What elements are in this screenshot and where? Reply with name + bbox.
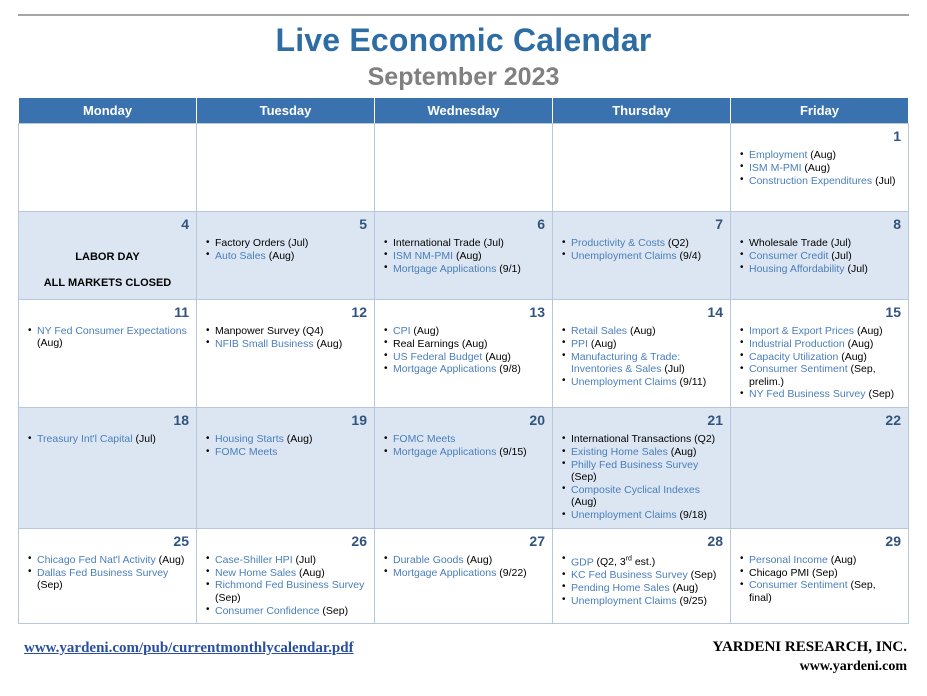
event-item[interactable]: Unemployment Claims (9/11): [560, 376, 723, 388]
event-link[interactable]: GDP: [571, 556, 594, 568]
event-list: Productivity & Costs (Q2)Unemployment Cl…: [560, 237, 723, 262]
event-item[interactable]: Mortgage Applications (9/1): [382, 263, 545, 275]
day-number: [204, 128, 367, 145]
event-item[interactable]: Housing Affordability (Jul): [738, 263, 901, 275]
event-link[interactable]: Consumer Credit: [749, 250, 828, 262]
event-item[interactable]: Employment (Aug): [738, 149, 901, 161]
event-item[interactable]: Case-Shiller HPI (Jul): [204, 554, 367, 566]
event-period: (Q2): [691, 433, 715, 445]
calendar-week-row: 11NY Fed Consumer Expectations (Aug)12Ma…: [19, 300, 909, 408]
event-period: (Aug): [588, 338, 617, 350]
event-link[interactable]: Unemployment Claims: [571, 250, 677, 262]
event-item[interactable]: FOMC Meets: [204, 446, 367, 458]
event-period: (9/15): [496, 446, 526, 458]
event-period: (Q4): [300, 325, 324, 337]
event-list: Employment (Aug)ISM M-PMI (Aug)Construct…: [738, 149, 901, 187]
event-period: (Aug): [453, 250, 482, 262]
event-link[interactable]: Employment: [749, 149, 807, 161]
event-link[interactable]: NY Fed Business Survey: [749, 388, 866, 400]
event-item[interactable]: GDP (Q2, 3rd est.): [560, 554, 723, 569]
event-period: (Sep): [215, 592, 241, 604]
event-period: (9/1): [496, 263, 521, 275]
weekday-header-thursday: Thursday: [553, 98, 731, 124]
event-item: Wholesale Trade (Jul): [738, 237, 901, 249]
event-period: (Jul): [285, 237, 308, 249]
event-period: (Sep): [866, 388, 895, 400]
event-period: (Q2): [665, 237, 689, 249]
event-period: (Sep): [688, 569, 717, 581]
day-number: [382, 128, 545, 145]
event-item[interactable]: Consumer Sentiment (Sep, prelim.): [738, 363, 901, 388]
weekday-header-friday: Friday: [731, 98, 909, 124]
event-period: (Aug): [845, 338, 874, 350]
event-period: (9/8): [496, 363, 521, 375]
footer: www.yardeni.com/pub/currentmonthlycalend…: [18, 634, 909, 690]
calendar-day-cell: 14Retail Sales (Aug)PPI (Aug)Manufacturi…: [553, 300, 731, 408]
event-link[interactable]: Mortgage Applications: [393, 446, 496, 458]
calendar-day-cell: 29Personal Income (Aug)Chicago PMI (Sep)…: [731, 528, 909, 623]
event-period: (Aug): [37, 337, 63, 349]
event-period: (Aug): [266, 250, 295, 262]
weekday-header-wednesday: Wednesday: [375, 98, 553, 124]
event-item: International Transactions (Q2): [560, 433, 723, 445]
weekday-header-monday: Monday: [19, 98, 197, 124]
event-item[interactable]: Construction Expenditures (Jul): [738, 175, 901, 187]
day-number: 20: [382, 412, 545, 429]
event-item[interactable]: Unemployment Claims (9/25): [560, 595, 723, 607]
calendar-day-cell: 6International Trade (Jul)ISM NM-PMI (Au…: [375, 212, 553, 300]
event-link[interactable]: Productivity & Costs: [571, 237, 665, 249]
event-period: (Q2, 3rd est.): [594, 556, 656, 568]
event-period: (Aug): [464, 554, 493, 566]
event-item[interactable]: Housing Starts (Aug): [204, 433, 367, 445]
event-item[interactable]: Auto Sales (Aug): [204, 250, 367, 262]
event-list: Retail Sales (Aug)PPI (Aug)Manufacturing…: [560, 325, 723, 388]
holiday-line-1: LABOR DAY: [26, 250, 189, 264]
holiday-line-2: ALL MARKETS CLOSED: [26, 276, 189, 290]
calendar-empty-cell: [375, 124, 553, 212]
event-item: Manpower Survey (Q4): [204, 325, 367, 337]
day-number: 19: [204, 412, 367, 429]
weekday-header-row: Monday Tuesday Wednesday Thursday Friday: [19, 98, 909, 124]
event-item[interactable]: Pending Home Sales (Aug): [560, 582, 723, 594]
event-link[interactable]: Personal Income: [749, 554, 828, 566]
event-item[interactable]: Composite Cyclical Indexes (Aug): [560, 484, 723, 509]
event-item[interactable]: Productivity & Costs (Q2): [560, 237, 723, 249]
day-number: 4: [26, 216, 189, 233]
day-number: 5: [204, 216, 367, 233]
event-link[interactable]: Import & Export Prices: [749, 325, 854, 337]
event-link[interactable]: FOMC Meets: [215, 446, 277, 458]
event-link[interactable]: NY Fed Consumer Expectations: [37, 325, 187, 337]
event-period: (Sep): [571, 471, 597, 483]
footer-branding: YARDENI RESEARCH, INC. www.yardeni.com: [713, 638, 907, 676]
event-item[interactable]: ISM M-PMI (Aug): [738, 162, 901, 174]
event-link[interactable]: Unemployment Claims: [571, 376, 677, 388]
event-item[interactable]: Industrial Production (Aug): [738, 338, 901, 350]
event-item[interactable]: Existing Home Sales (Aug): [560, 446, 723, 458]
event-item[interactable]: Consumer Confidence (Sep): [204, 605, 367, 617]
calendar-empty-cell: [197, 124, 375, 212]
event-item[interactable]: Consumer Credit (Jul): [738, 250, 901, 262]
event-list: Durable Goods (Aug)Mortgage Applications…: [382, 554, 545, 579]
weekday-header-tuesday: Tuesday: [197, 98, 375, 124]
event-item[interactable]: ISM NM-PMI (Aug): [382, 250, 545, 262]
event-list: Factory Orders (Jul)Auto Sales (Aug): [204, 237, 367, 262]
day-number: 12: [204, 304, 367, 321]
event-label: Factory Orders: [215, 237, 285, 249]
event-period: (Aug): [807, 149, 836, 161]
event-label: International Transactions: [571, 433, 691, 445]
event-link[interactable]: FOMC Meets: [393, 433, 455, 445]
event-period: (Aug): [802, 162, 831, 174]
event-item[interactable]: CPI (Aug): [382, 325, 545, 337]
day-number: 27: [382, 533, 545, 550]
event-link[interactable]: Treasury Int'l Capital: [37, 433, 133, 445]
page-title: Live Economic Calendar: [0, 20, 927, 60]
event-item[interactable]: FOMC Meets: [382, 433, 545, 445]
day-number: 21: [560, 412, 723, 429]
event-link[interactable]: CPI: [393, 325, 411, 337]
event-link[interactable]: Unemployment Claims: [571, 595, 677, 607]
event-period: (9/25): [677, 595, 707, 607]
event-period: (Sep): [809, 567, 838, 579]
event-link[interactable]: Mortgage Applications: [393, 263, 496, 275]
event-item[interactable]: Dallas Fed Business Survey (Sep): [26, 567, 189, 592]
event-link[interactable]: US Federal Budget: [393, 351, 482, 363]
event-item[interactable]: Mortgage Applications (9/15): [382, 446, 545, 458]
event-period: (Jul): [845, 263, 868, 275]
calendar-day-cell: 19Housing Starts (Aug)FOMC Meets: [197, 408, 375, 529]
event-link[interactable]: Chicago Fed Nat'l Activity: [37, 554, 156, 566]
event-item[interactable]: Retail Sales (Aug): [560, 325, 723, 337]
event-label: Chicago PMI: [749, 567, 809, 579]
calendar-pdf-link[interactable]: www.yardeni.com/pub/currentmonthlycalend…: [24, 640, 354, 657]
event-item[interactable]: Consumer Sentiment (Sep, final): [738, 579, 901, 604]
calendar-day-cell: 1Employment (Aug)ISM M-PMI (Aug)Construc…: [731, 124, 909, 212]
event-period: (Aug): [627, 325, 656, 337]
calendar-day-cell: 11NY Fed Consumer Expectations (Aug): [19, 300, 197, 408]
event-link[interactable]: Retail Sales: [571, 325, 627, 337]
event-item[interactable]: NFIB Small Business (Aug): [204, 338, 367, 350]
calendar-day-cell: 4LABOR DAYALL MARKETS CLOSED: [19, 212, 197, 300]
calendar-day-cell: 27Durable Goods (Aug)Mortgage Applicatio…: [375, 528, 553, 623]
day-number: 11: [26, 304, 189, 321]
event-link[interactable]: KC Fed Business Survey: [571, 569, 688, 581]
calendar-day-cell: 20FOMC MeetsMortgage Applications (9/15): [375, 408, 553, 529]
calendar-day-cell: 21International Transactions (Q2)Existin…: [553, 408, 731, 529]
event-item: International Trade (Jul): [382, 237, 545, 249]
event-label: Real Earnings: [393, 338, 459, 350]
calendar-day-cell: 28GDP (Q2, 3rd est.)KC Fed Business Surv…: [553, 528, 731, 623]
calendar-week-row: 4LABOR DAYALL MARKETS CLOSED5Factory Ord…: [19, 212, 909, 300]
event-item[interactable]: New Home Sales (Aug): [204, 567, 367, 579]
event-item[interactable]: PPI (Aug): [560, 338, 723, 350]
day-number: 25: [26, 533, 189, 550]
event-link[interactable]: Existing Home Sales: [571, 446, 668, 458]
day-number: 15: [738, 304, 901, 321]
event-list: FOMC MeetsMortgage Applications (9/15): [382, 433, 545, 458]
event-link[interactable]: Richmond Fed Business Survey: [215, 579, 364, 591]
day-number: 8: [738, 216, 901, 233]
event-link[interactable]: Pending Home Sales: [571, 582, 670, 594]
event-link[interactable]: Composite Cyclical Indexes: [571, 484, 700, 496]
event-label: Wholesale Trade: [749, 237, 828, 249]
event-period: (Aug): [459, 338, 488, 350]
event-list: Treasury Int'l Capital (Jul): [26, 433, 189, 445]
event-period: (Sep): [319, 605, 348, 617]
calendar-day-cell: 8Wholesale Trade (Jul)Consumer Credit (J…: [731, 212, 909, 300]
event-period: (Sep): [37, 579, 63, 591]
calendar-day-cell: 18Treasury Int'l Capital (Jul): [19, 408, 197, 529]
day-number: 18: [26, 412, 189, 429]
event-link[interactable]: Case-Shiller HPI: [215, 554, 293, 566]
firm-website: www.yardeni.com: [713, 657, 907, 676]
event-link[interactable]: New Home Sales: [215, 567, 296, 579]
event-period: (Aug): [828, 554, 857, 566]
event-item[interactable]: Personal Income (Aug): [738, 554, 901, 566]
day-number: 6: [382, 216, 545, 233]
event-period: (Jul): [661, 363, 684, 375]
event-link[interactable]: Industrial Production: [749, 338, 845, 350]
event-item[interactable]: NY Fed Consumer Expectations (Aug): [26, 325, 189, 350]
event-list: GDP (Q2, 3rd est.)KC Fed Business Survey…: [560, 554, 723, 607]
event-link[interactable]: Housing Affordability: [749, 263, 845, 275]
calendar-week-row: 18Treasury Int'l Capital (Jul)19Housing …: [19, 408, 909, 529]
event-list: International Transactions (Q2)Existing …: [560, 433, 723, 521]
event-label: Manpower Survey: [215, 325, 300, 337]
calendar-body: 1Employment (Aug)ISM M-PMI (Aug)Construc…: [19, 124, 909, 624]
event-list: NY Fed Consumer Expectations (Aug): [26, 325, 189, 350]
event-item[interactable]: Capacity Utilization (Aug): [738, 351, 901, 363]
event-item: Factory Orders (Jul): [204, 237, 367, 249]
event-period: (Aug): [668, 446, 697, 458]
event-period: (Aug): [411, 325, 440, 337]
day-number: 26: [204, 533, 367, 550]
day-number: 1: [738, 128, 901, 145]
event-link[interactable]: Mortgage Applications: [393, 363, 496, 375]
calendar-day-cell: 12Manpower Survey (Q4)NFIB Small Busines…: [197, 300, 375, 408]
event-link[interactable]: ISM NM-PMI: [393, 250, 453, 262]
day-number: 28: [560, 533, 723, 550]
event-period: (Aug): [314, 338, 343, 350]
day-number: [560, 128, 723, 145]
event-period: (Aug): [854, 325, 883, 337]
event-link[interactable]: Housing Starts: [215, 433, 284, 445]
event-list: Chicago Fed Nat'l Activity (Aug)Dallas F…: [26, 554, 189, 591]
event-list: Import & Export Prices (Aug)Industrial P…: [738, 325, 901, 401]
day-number: 14: [560, 304, 723, 321]
event-list: Housing Starts (Aug)FOMC Meets: [204, 433, 367, 458]
event-item[interactable]: Richmond Fed Business Survey (Sep): [204, 579, 367, 604]
event-link[interactable]: Durable Goods: [393, 554, 464, 566]
event-period: (Jul): [828, 237, 851, 249]
event-period: (Jul): [293, 554, 316, 566]
event-item[interactable]: Philly Fed Business Survey (Sep): [560, 459, 723, 484]
event-link[interactable]: Dallas Fed Business Survey: [37, 567, 168, 579]
event-list: Manpower Survey (Q4)NFIB Small Business …: [204, 325, 367, 350]
event-period: (Jul): [481, 237, 504, 249]
event-period: (Jul): [133, 433, 156, 445]
event-link[interactable]: PPI: [571, 338, 588, 350]
event-item[interactable]: Mortgage Applications (9/22): [382, 567, 545, 579]
event-link[interactable]: Mortgage Applications: [393, 567, 496, 579]
calendar-week-row: 25Chicago Fed Nat'l Activity (Aug)Dallas…: [19, 528, 909, 623]
event-link[interactable]: Unemployment Claims: [571, 509, 677, 521]
event-period: (Aug): [482, 351, 511, 363]
day-number: 29: [738, 533, 901, 550]
calendar-day-cell: 13CPI (Aug)Real Earnings (Aug)US Federal…: [375, 300, 553, 408]
calendar-day-cell: 5Factory Orders (Jul)Auto Sales (Aug): [197, 212, 375, 300]
event-link[interactable]: Consumer Confidence: [215, 605, 319, 617]
event-list: International Trade (Jul)ISM NM-PMI (Aug…: [382, 237, 545, 275]
event-period: (Aug): [670, 582, 699, 594]
day-number: 13: [382, 304, 545, 321]
event-period: (9/11): [677, 376, 707, 388]
event-period: (9/18): [677, 509, 707, 521]
event-item[interactable]: Chicago Fed Nat'l Activity (Aug): [26, 554, 189, 566]
calendar-day-cell: 7Productivity & Costs (Q2)Unemployment C…: [553, 212, 731, 300]
event-item[interactable]: Manufacturing & Trade: Inventories & Sal…: [560, 351, 723, 376]
page-subtitle: September 2023: [0, 61, 927, 93]
firm-name: YARDENI RESEARCH, INC.: [713, 638, 907, 657]
calendar-empty-cell: [553, 124, 731, 212]
event-link[interactable]: Consumer Sentiment: [749, 363, 848, 375]
calendar-table: Monday Tuesday Wednesday Thursday Friday…: [18, 97, 909, 624]
day-number: [26, 128, 189, 145]
event-item[interactable]: Import & Export Prices (Aug): [738, 325, 901, 337]
event-link[interactable]: Auto Sales: [215, 250, 266, 262]
event-period: (Aug): [156, 554, 185, 566]
calendar-week-row: 1Employment (Aug)ISM M-PMI (Aug)Construc…: [19, 124, 909, 212]
event-period: (9/22): [496, 567, 526, 579]
event-period: (Aug): [838, 351, 867, 363]
event-item[interactable]: Mortgage Applications (9/8): [382, 363, 545, 375]
event-list: Personal Income (Aug)Chicago PMI (Sep)Co…: [738, 554, 901, 604]
event-link[interactable]: Philly Fed Business Survey: [571, 459, 698, 471]
event-item[interactable]: US Federal Budget (Aug): [382, 351, 545, 363]
calendar-day-cell: 25Chicago Fed Nat'l Activity (Aug)Dallas…: [19, 528, 197, 623]
event-link[interactable]: Capacity Utilization: [749, 351, 838, 363]
economic-calendar-page: Live Economic Calendar September 2023 Mo…: [0, 0, 927, 696]
event-period: (Aug): [284, 433, 313, 445]
event-item[interactable]: NY Fed Business Survey (Sep): [738, 388, 901, 400]
event-period: (Aug): [571, 496, 597, 508]
event-period: (Jul): [872, 175, 895, 187]
event-list: Case-Shiller HPI (Jul)New Home Sales (Au…: [204, 554, 367, 617]
event-item[interactable]: Unemployment Claims (9/4): [560, 250, 723, 262]
calendar-empty-cell: [19, 124, 197, 212]
calendar-day-cell: 22: [731, 408, 909, 529]
top-divider: [18, 14, 909, 16]
event-item: Chicago PMI (Sep): [738, 567, 901, 579]
event-link[interactable]: ISM M-PMI: [749, 162, 802, 174]
event-list: CPI (Aug)Real Earnings (Aug)US Federal B…: [382, 325, 545, 376]
event-period: (Aug): [296, 567, 325, 579]
day-number: 7: [560, 216, 723, 233]
event-link[interactable]: Consumer Sentiment: [749, 579, 848, 591]
event-list: Wholesale Trade (Jul)Consumer Credit (Ju…: [738, 237, 901, 275]
event-item: Real Earnings (Aug): [382, 338, 545, 350]
event-period: (9/4): [677, 250, 702, 262]
event-item[interactable]: Unemployment Claims (9/18): [560, 509, 723, 521]
calendar-day-cell: 26Case-Shiller HPI (Jul)New Home Sales (…: [197, 528, 375, 623]
title-block: Live Economic Calendar September 2023: [0, 20, 927, 93]
day-number: 22: [738, 412, 901, 429]
event-item[interactable]: Durable Goods (Aug): [382, 554, 545, 566]
event-label: International Trade: [393, 237, 481, 249]
holiday-notice: LABOR DAYALL MARKETS CLOSED: [26, 250, 189, 290]
event-link[interactable]: Construction Expenditures: [749, 175, 872, 187]
calendar-day-cell: 15Import & Export Prices (Aug)Industrial…: [731, 300, 909, 408]
event-link[interactable]: NFIB Small Business: [215, 338, 314, 350]
event-period: (Jul): [828, 250, 851, 262]
event-item[interactable]: KC Fed Business Survey (Sep): [560, 569, 723, 581]
event-item[interactable]: Treasury Int'l Capital (Jul): [26, 433, 189, 445]
